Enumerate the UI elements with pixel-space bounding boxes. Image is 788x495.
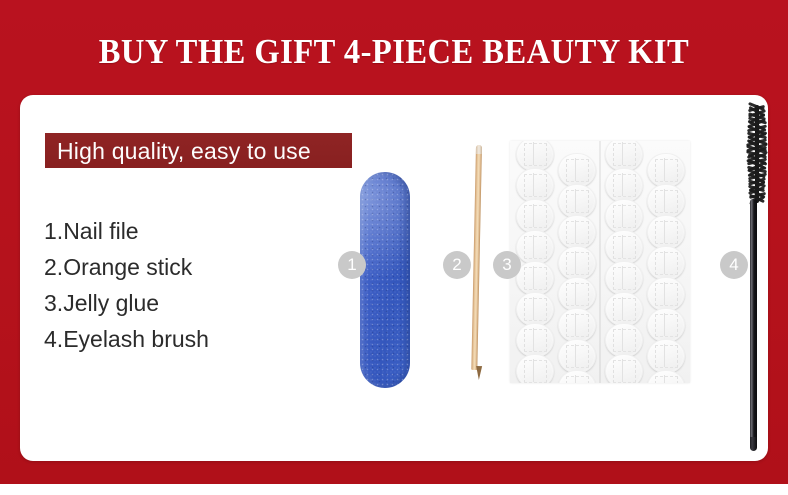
glue-tab bbox=[647, 215, 685, 249]
list-item-number: 2. bbox=[44, 254, 63, 280]
orange-stick-pointed-end bbox=[476, 366, 482, 380]
list-item: 1.Nail file bbox=[44, 213, 324, 249]
glue-tab bbox=[558, 339, 596, 373]
glue-tab bbox=[558, 308, 596, 342]
list-item-label: Jelly glue bbox=[63, 290, 159, 316]
list-item-number: 4. bbox=[44, 326, 63, 352]
list-item-label: Nail file bbox=[63, 218, 138, 244]
glue-tab bbox=[647, 370, 685, 383]
glue-tab bbox=[605, 292, 643, 326]
glue-tab bbox=[558, 370, 596, 383]
glue-tab bbox=[647, 153, 685, 187]
orange-stick-blunt-end bbox=[476, 145, 482, 154]
glue-tab bbox=[516, 199, 554, 233]
quality-badge-label: High quality, easy to use bbox=[57, 137, 311, 165]
glue-tab bbox=[516, 292, 554, 326]
glue-tab bbox=[558, 246, 596, 280]
glue-tab bbox=[647, 184, 685, 218]
quality-badge: High quality, easy to use bbox=[45, 133, 352, 168]
list-item: 2.Orange stick bbox=[44, 249, 324, 285]
feature-list: 1.Nail file 2.Orange stick 3.Jelly glue … bbox=[44, 213, 324, 357]
glue-tab bbox=[558, 277, 596, 311]
glue-tab bbox=[516, 261, 554, 295]
glue-tab bbox=[647, 246, 685, 280]
list-item-number: 3. bbox=[44, 290, 63, 316]
glue-tab bbox=[605, 141, 643, 171]
glue-tab bbox=[516, 354, 554, 383]
marker-badge-1: 1 bbox=[338, 251, 366, 279]
glue-tab bbox=[558, 153, 596, 187]
glue-tab bbox=[605, 354, 643, 383]
glue-tab bbox=[605, 230, 643, 264]
glue-tab bbox=[516, 141, 554, 171]
glue-tab bbox=[605, 199, 643, 233]
product-card: High quality, easy to use 1.Nail file 2.… bbox=[20, 95, 768, 461]
promo-banner: BUY THE GIFT 4-PIECE BEAUTY KIT High qua… bbox=[0, 0, 788, 495]
list-item: 4.Eyelash brush bbox=[44, 321, 324, 357]
product-eyelash-brush bbox=[738, 103, 768, 451]
marker-badge-2: 2 bbox=[443, 251, 471, 279]
glue-tab bbox=[647, 308, 685, 342]
glue-tab bbox=[647, 339, 685, 373]
glue-tab bbox=[558, 184, 596, 218]
eyelash-brush-handle-tip bbox=[750, 437, 757, 451]
product-orange-stick bbox=[474, 145, 484, 380]
glue-tab bbox=[647, 277, 685, 311]
glue-sheet-divider bbox=[599, 141, 601, 383]
list-item-label: Eyelash brush bbox=[63, 326, 209, 352]
glue-tab bbox=[605, 323, 643, 357]
glue-tab bbox=[605, 261, 643, 295]
list-item-number: 1. bbox=[44, 218, 63, 244]
glue-tab bbox=[605, 168, 643, 202]
marker-badge-4: 4 bbox=[720, 251, 748, 279]
orange-stick-shaft bbox=[471, 145, 482, 370]
product-nail-file bbox=[360, 172, 410, 388]
eyelash-brush-handle bbox=[750, 199, 757, 449]
page-title: BUY THE GIFT 4-PIECE BEAUTY KIT bbox=[28, 30, 761, 74]
list-item-label: Orange stick bbox=[63, 254, 192, 280]
marker-badge-3: 3 bbox=[493, 251, 521, 279]
eyelash-brush-head bbox=[746, 103, 768, 203]
glue-tab bbox=[558, 215, 596, 249]
list-item: 3.Jelly glue bbox=[44, 285, 324, 321]
glue-tab bbox=[516, 323, 554, 357]
glue-tab bbox=[516, 168, 554, 202]
glue-tab bbox=[516, 230, 554, 264]
product-jelly-glue-sheet bbox=[510, 141, 690, 383]
nail-file-grain-texture bbox=[360, 172, 410, 388]
